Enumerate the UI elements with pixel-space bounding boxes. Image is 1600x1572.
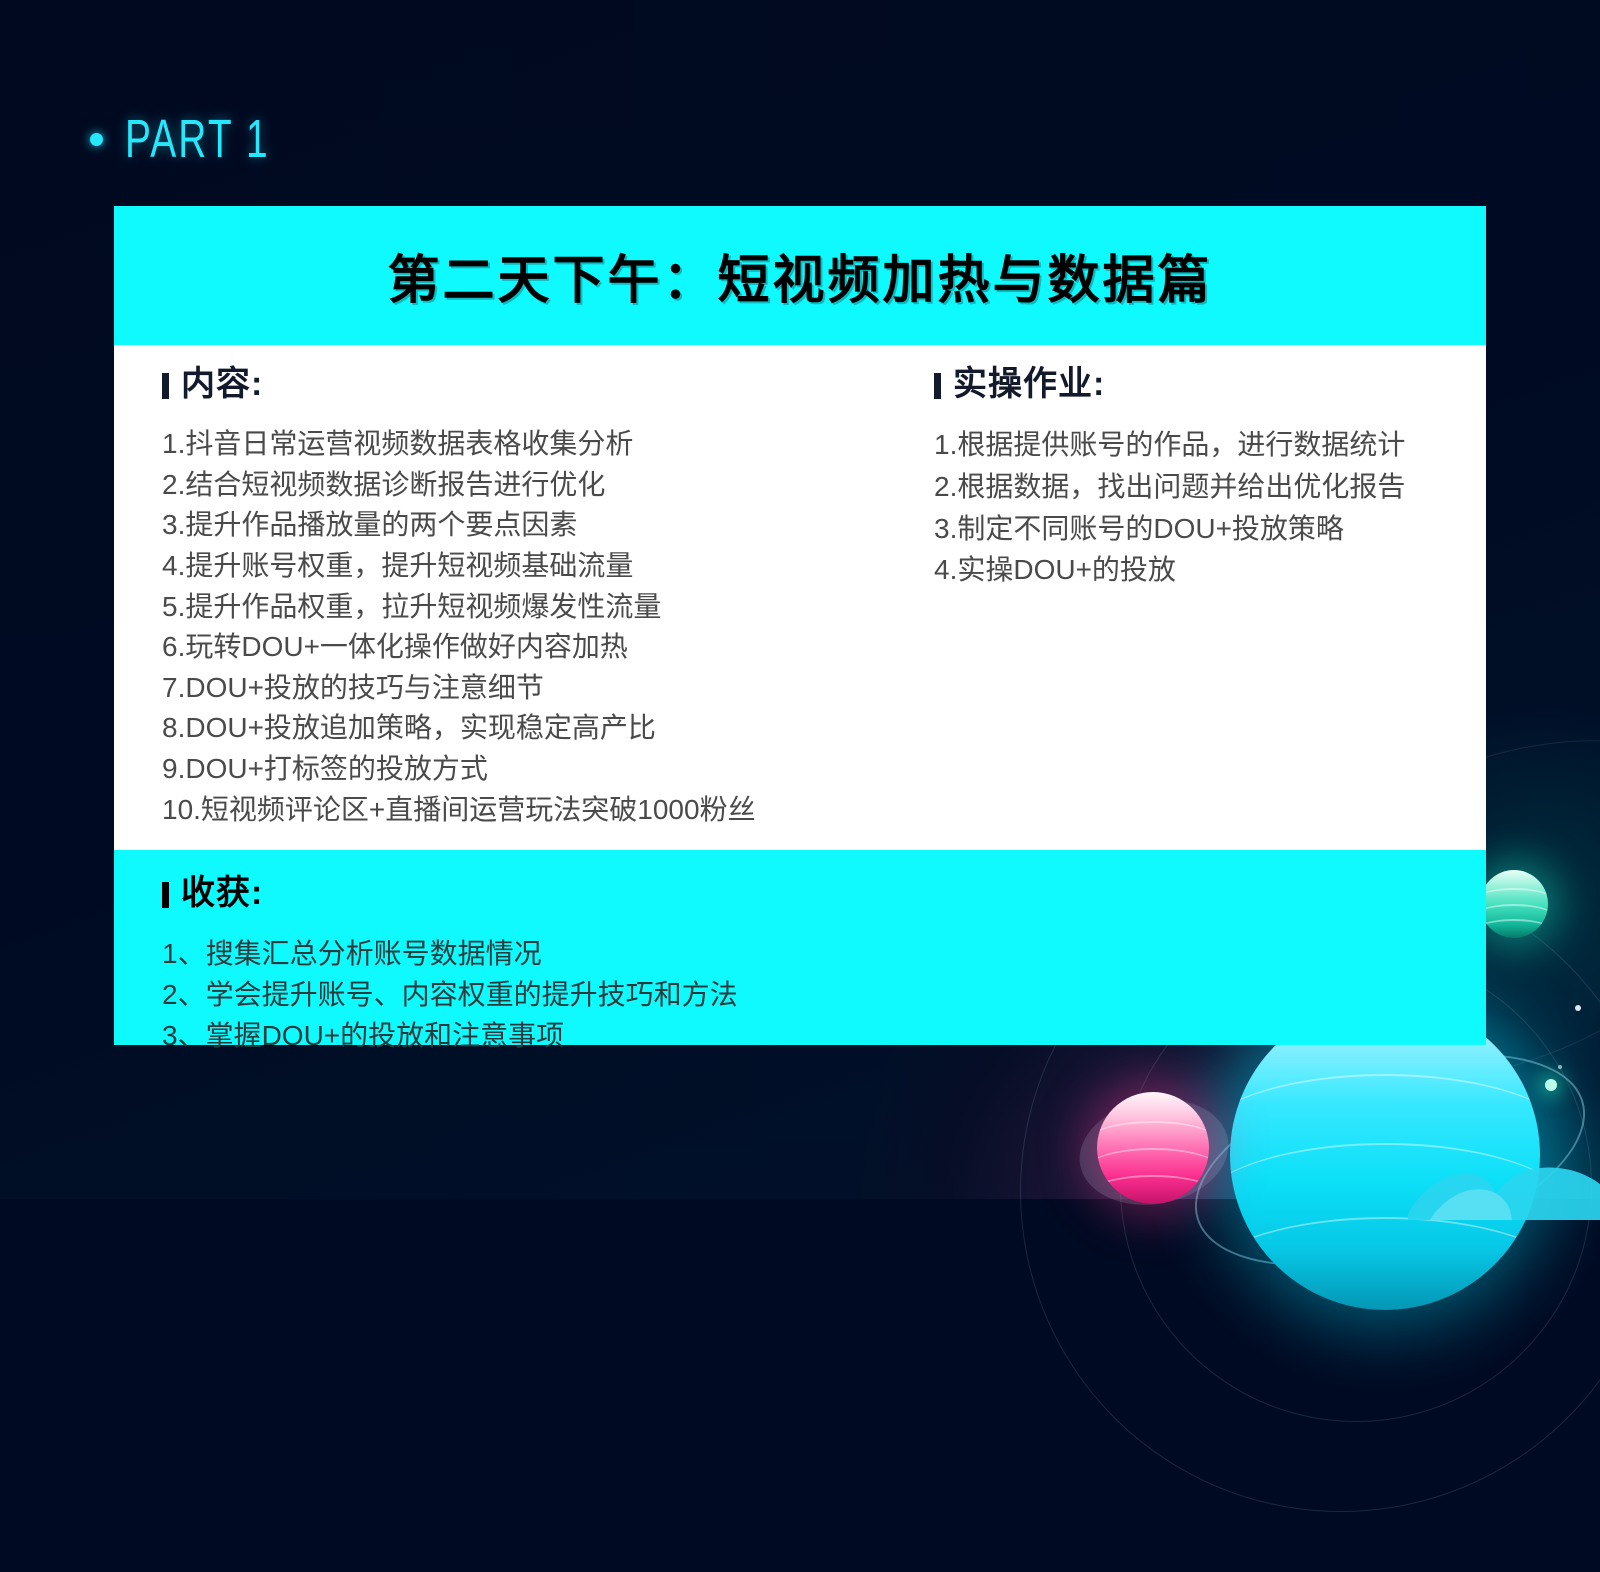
content-section-heading: 内容: [162,367,904,401]
bullet-dot-icon [90,133,103,146]
homework-heading-text: 实操作业: [953,367,1105,401]
gains-section-heading: 收获: [162,876,1486,910]
list-item: 1、搜集汇总分析账号数据情况 [162,934,1486,973]
list-item: 1.抖音日常运营视频数据表格收集分析 [162,425,904,464]
gains-item-list: 1、搜集汇总分析账号数据情况 2、学会提升账号、内容权重的提升技巧和方法 3、掌… [162,934,1486,1056]
content-item-list: 1.抖音日常运营视频数据表格收集分析 2.结合短视频数据诊断报告进行优化 3.提… [162,425,904,829]
homework-column: 实操作业: 1.根据提供账号的作品，进行数据统计 2.根据数据，找出问题并给出优… [914,367,1486,850]
homework-section-heading: 实操作业: [934,367,1442,401]
list-item: 3.提升作品播放量的两个要点因素 [162,506,904,545]
green-planet [1480,870,1548,938]
content-column: 内容: 1.抖音日常运营视频数据表格收集分析 2.结合短视频数据诊断报告进行优化… [114,367,914,850]
heading-marker-icon [934,373,941,399]
list-item: 9.DOU+打标签的投放方式 [162,750,904,789]
list-item: 2、学会提升账号、内容权重的提升技巧和方法 [162,975,1486,1014]
hand-reaching-icon [1400,1110,1600,1220]
heading-marker-icon [162,373,169,399]
content-heading-text: 内容: [181,367,263,401]
card-body: 内容: 1.抖音日常运营视频数据表格收集分析 2.结合短视频数据诊断报告进行优化… [114,345,1486,850]
card-title-bar: 第二天下午：短视频加热与数据篇 [114,206,1486,345]
part-label-text: PART 1 [125,112,270,166]
gains-heading-text: 收获: [181,876,263,910]
gains-section: 收获: 1、搜集汇总分析账号数据情况 2、学会提升账号、内容权重的提升技巧和方法… [114,850,1486,1045]
star-dot [1575,1005,1581,1011]
list-item: 2.结合短视频数据诊断报告进行优化 [162,466,904,505]
list-item: 3、掌握DOU+的投放和注意事项 [162,1016,1486,1055]
homework-item-list: 1.根据提供账号的作品，进行数据统计 2.根据数据，找出问题并给出优化报告 3.… [934,425,1442,590]
list-item: 3.制定不同账号的DOU+投放策略 [934,509,1442,549]
list-item: 8.DOU+投放追加策略，实现稳定高产比 [162,709,904,748]
list-item: 2.根据数据，找出问题并给出优化报告 [934,467,1442,507]
list-item: 6.玩转DOU+一体化操作做好内容加热 [162,628,904,667]
list-item: 5.提升作品权重，拉升短视频爆发性流量 [162,588,904,627]
heading-marker-icon [162,882,169,908]
card-title: 第二天下午：短视频加热与数据篇 [387,238,1212,313]
list-item: 4.实操DOU+的投放 [934,550,1442,590]
part-label: PART 1 [90,112,326,166]
pink-planet [1097,1092,1209,1204]
list-item: 7.DOU+投放的技巧与注意细节 [162,669,904,708]
list-item: 1.根据提供账号的作品，进行数据统计 [934,425,1442,465]
list-item: 4.提升账号权重，提升短视频基础流量 [162,547,904,586]
list-item: 10.短视频评论区+直播间运营玩法突破1000粉丝 [162,791,904,830]
star-dot [1558,1065,1562,1069]
content-card: 第二天下午：短视频加热与数据篇 内容: 1.抖音日常运营视频数据表格收集分析 2… [114,206,1486,1045]
